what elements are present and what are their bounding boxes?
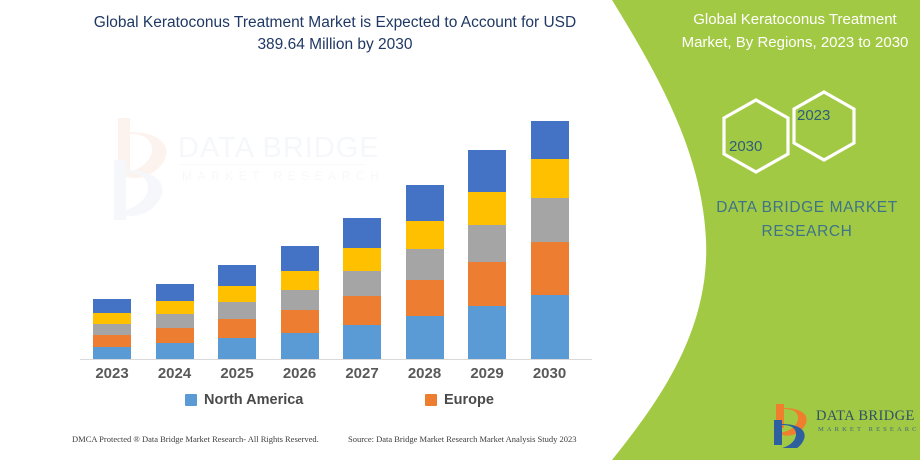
bar-segment-europe-2023[interactable] bbox=[93, 335, 131, 347]
legend-item-north-america[interactable]: North America bbox=[185, 392, 303, 408]
hexagon-2030-icon bbox=[724, 100, 788, 172]
bar-segment-series-3-2028[interactable] bbox=[406, 249, 444, 280]
bar-segment-europe-2030[interactable] bbox=[531, 242, 569, 295]
bar-segment-series-3-2026[interactable] bbox=[281, 290, 319, 310]
footer-copyright: DMCA Protected ® Data Bridge Market Rese… bbox=[72, 434, 319, 444]
x-axis-label-2029: 2029 bbox=[457, 365, 517, 382]
bar-segment-series-4-2025[interactable] bbox=[218, 286, 256, 302]
bar-segment-europe-2025[interactable] bbox=[218, 319, 256, 338]
bar-segment-north-america-2023[interactable] bbox=[93, 347, 131, 359]
bar-segment-series-5-2027[interactable] bbox=[343, 218, 381, 248]
bar-segment-series-3-2030[interactable] bbox=[531, 198, 569, 242]
bar-segment-europe-2028[interactable] bbox=[406, 280, 444, 316]
bar-column-2024[interactable] bbox=[156, 284, 194, 359]
footer-source: Source: Data Bridge Market Research Mark… bbox=[348, 434, 577, 444]
bar-segment-series-5-2024[interactable] bbox=[156, 284, 194, 301]
bar-segment-series-3-2029[interactable] bbox=[468, 225, 506, 262]
legend-label: North America bbox=[204, 392, 303, 408]
bar-segment-series-4-2024[interactable] bbox=[156, 301, 194, 314]
bar-column-2025[interactable] bbox=[218, 265, 256, 359]
bar-column-2023[interactable] bbox=[93, 299, 131, 359]
page-title: Global Keratoconus Treatment Market is E… bbox=[75, 12, 595, 56]
bar-segment-series-3-2024[interactable] bbox=[156, 314, 194, 328]
bar-segment-series-4-2029[interactable] bbox=[468, 192, 506, 225]
bar-segment-series-5-2029[interactable] bbox=[468, 150, 506, 192]
bar-segment-series-4-2027[interactable] bbox=[343, 248, 381, 271]
logo-subtitle: MARKET RESEARCH bbox=[818, 426, 920, 433]
infographic-canvas: Global Keratoconus Treatment Market is E… bbox=[0, 0, 920, 460]
x-axis-label-2027: 2027 bbox=[332, 365, 392, 382]
panel-title: Global Keratoconus Treatment Market, By … bbox=[676, 8, 914, 54]
bar-segment-europe-2029[interactable] bbox=[468, 262, 506, 306]
bar-segment-series-5-2023[interactable] bbox=[93, 299, 131, 313]
bar-column-2028[interactable] bbox=[406, 185, 444, 359]
bar-column-2030[interactable] bbox=[531, 121, 569, 359]
bar-segment-north-america-2024[interactable] bbox=[156, 343, 194, 359]
legend-swatch-icon bbox=[185, 394, 197, 406]
bar-segment-series-4-2028[interactable] bbox=[406, 221, 444, 249]
x-axis-label-2024: 2024 bbox=[145, 365, 205, 382]
bar-segment-europe-2024[interactable] bbox=[156, 328, 194, 343]
stacked-bar-chart bbox=[75, 95, 595, 360]
bar-segment-europe-2027[interactable] bbox=[343, 296, 381, 325]
x-axis-line bbox=[80, 359, 592, 361]
x-axis-label-2023: 2023 bbox=[82, 365, 142, 382]
bar-segment-north-america-2028[interactable] bbox=[406, 316, 444, 359]
legend-item-europe[interactable]: Europe bbox=[425, 392, 494, 408]
bar-segment-north-america-2030[interactable] bbox=[531, 295, 569, 359]
x-axis-labels: 20232024202520262027202820292030 bbox=[75, 365, 595, 389]
hexagon-2023-label: 2023 bbox=[797, 107, 830, 124]
bar-column-2029[interactable] bbox=[468, 150, 506, 359]
bar-segment-series-5-2026[interactable] bbox=[281, 246, 319, 271]
bar-segment-north-america-2025[interactable] bbox=[218, 338, 256, 359]
bar-segment-series-5-2025[interactable] bbox=[218, 265, 256, 286]
legend-label: Europe bbox=[444, 392, 494, 408]
bar-column-2026[interactable] bbox=[281, 246, 319, 359]
bar-segment-series-4-2026[interactable] bbox=[281, 271, 319, 290]
bar-segment-series-3-2025[interactable] bbox=[218, 302, 256, 319]
x-axis-label-2030: 2030 bbox=[520, 365, 580, 382]
bar-segment-series-4-2030[interactable] bbox=[531, 159, 569, 198]
hexagon-2030-label: 2030 bbox=[729, 138, 762, 155]
x-axis-label-2026: 2026 bbox=[270, 365, 330, 382]
bar-segment-europe-2026[interactable] bbox=[281, 310, 319, 333]
bar-segment-north-america-2029[interactable] bbox=[468, 306, 506, 359]
chart-legend: North AmericaEurope bbox=[75, 392, 595, 414]
bar-segment-north-america-2027[interactable] bbox=[343, 325, 381, 359]
bar-column-2027[interactable] bbox=[343, 218, 381, 359]
bar-segment-series-3-2027[interactable] bbox=[343, 271, 381, 296]
panel-brand: DATA BRIDGE MARKET RESEARCH bbox=[692, 196, 920, 244]
x-axis-label-2028: 2028 bbox=[395, 365, 455, 382]
x-axis-label-2025: 2025 bbox=[207, 365, 267, 382]
bar-segment-series-3-2023[interactable] bbox=[93, 324, 131, 335]
bar-segment-series-5-2030[interactable] bbox=[531, 121, 569, 159]
hexagon-2023-icon bbox=[794, 92, 854, 160]
logo-title: DATA BRIDGE bbox=[816, 408, 915, 425]
legend-swatch-icon bbox=[425, 394, 437, 406]
data-bridge-logo-icon bbox=[766, 402, 814, 448]
bar-segment-series-4-2023[interactable] bbox=[93, 313, 131, 324]
bar-segment-north-america-2026[interactable] bbox=[281, 333, 319, 359]
bar-segment-series-5-2028[interactable] bbox=[406, 185, 444, 221]
